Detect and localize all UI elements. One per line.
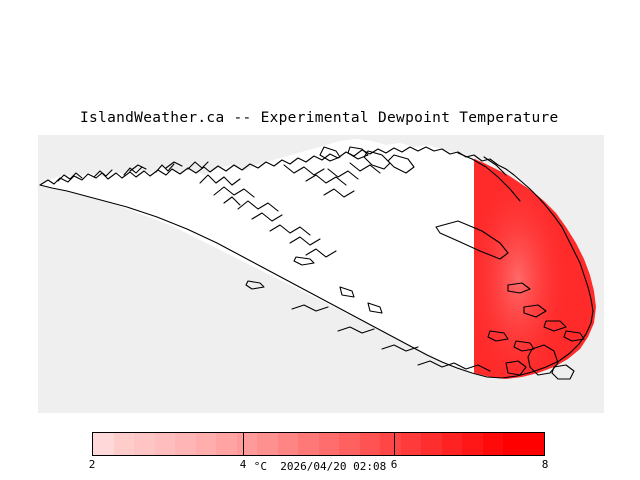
colorbar-gradient [92, 432, 545, 456]
colorbar-swatch [175, 433, 196, 455]
colorbar-swatch [462, 433, 483, 455]
colorbar-swatch [442, 433, 463, 455]
colorbar-swatch [503, 433, 524, 455]
colorbar-swatch [93, 433, 114, 455]
colorbar-swatch [196, 433, 217, 455]
colorbar[interactable]: 2468 [92, 432, 545, 456]
colorbar-tick-mark [394, 432, 395, 456]
colorbar-swatch [483, 433, 504, 455]
colorbar-swatch [216, 433, 237, 455]
colorbar-swatch [278, 433, 299, 455]
colorbar-swatch [339, 433, 360, 455]
page-title: IslandWeather.ca -- Experimental Dewpoin… [80, 110, 559, 126]
weather-map-page: IslandWeather.ca -- Experimental Dewpoin… [0, 0, 640, 480]
map-panel[interactable] [38, 135, 604, 413]
colorbar-swatch [360, 433, 381, 455]
colorbar-swatch [401, 433, 422, 455]
colorbar-swatch [257, 433, 278, 455]
colorbar-tick-mark [243, 432, 244, 456]
colorbar-swatch [421, 433, 442, 455]
colorbar-swatch [134, 433, 155, 455]
colorbar-swatch [319, 433, 340, 455]
colorbar-swatch [524, 433, 545, 455]
colorbar-swatch [237, 433, 258, 455]
colorbar-swatch [114, 433, 135, 455]
colorbar-swatch [380, 433, 401, 455]
colorbar-caption: °C 2026/04/20 02:08 [0, 460, 640, 473]
colorbar-swatch [298, 433, 319, 455]
map-graphic [38, 135, 604, 413]
colorbar-swatch [155, 433, 176, 455]
